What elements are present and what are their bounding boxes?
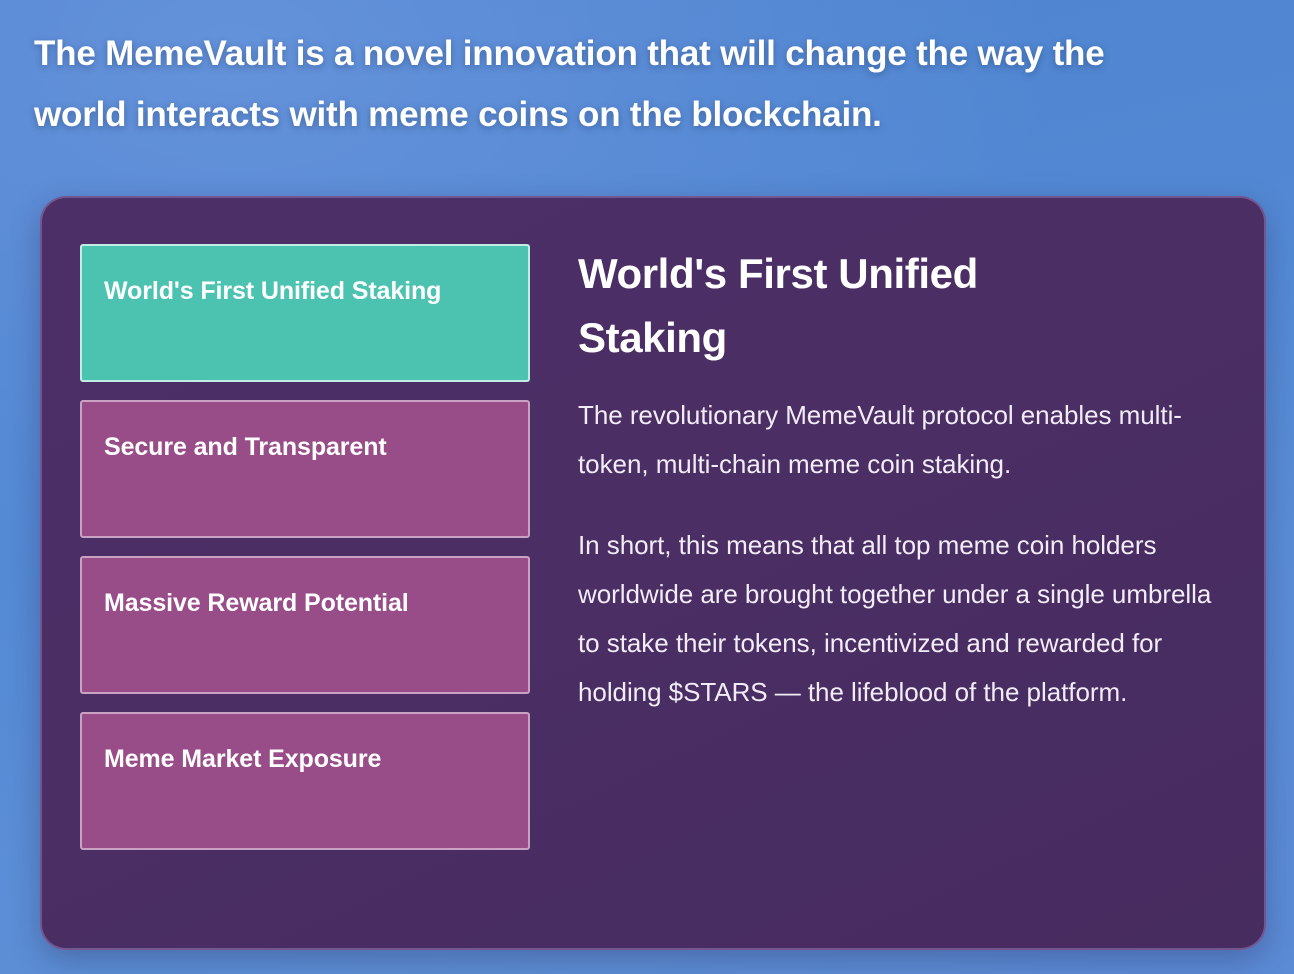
- intro-heading-line-2: world interacts with meme coins on the b…: [34, 84, 1266, 145]
- tab-label: World's First Unified Staking: [104, 274, 504, 309]
- tab-worlds-first-unified-staking[interactable]: World's First Unified Staking: [80, 244, 530, 382]
- content-title: World's First Unified Staking: [578, 242, 1118, 370]
- tab-label: Meme Market Exposure: [104, 742, 504, 777]
- feature-content-pane: World's First Unified Staking The revolu…: [578, 242, 1224, 904]
- feature-tab-list: World's First Unified Staking Secure and…: [80, 242, 530, 904]
- tab-secure-and-transparent[interactable]: Secure and Transparent: [80, 400, 530, 538]
- feature-panel-card: World's First Unified Staking Secure and…: [40, 196, 1266, 950]
- tab-meme-market-exposure[interactable]: Meme Market Exposure: [80, 712, 530, 850]
- tab-label: Massive Reward Potential: [104, 586, 504, 621]
- tab-massive-reward-potential[interactable]: Massive Reward Potential: [80, 556, 530, 694]
- content-paragraph-1: The revolutionary MemeVault protocol ena…: [578, 391, 1224, 489]
- content-paragraph-2: In short, this means that all top meme c…: [578, 521, 1224, 717]
- intro-heading-line-1: The MemeVault is a novel innovation that…: [34, 23, 1266, 84]
- tab-label: Secure and Transparent: [104, 430, 504, 465]
- intro-heading: The MemeVault is a novel innovation that…: [34, 23, 1266, 145]
